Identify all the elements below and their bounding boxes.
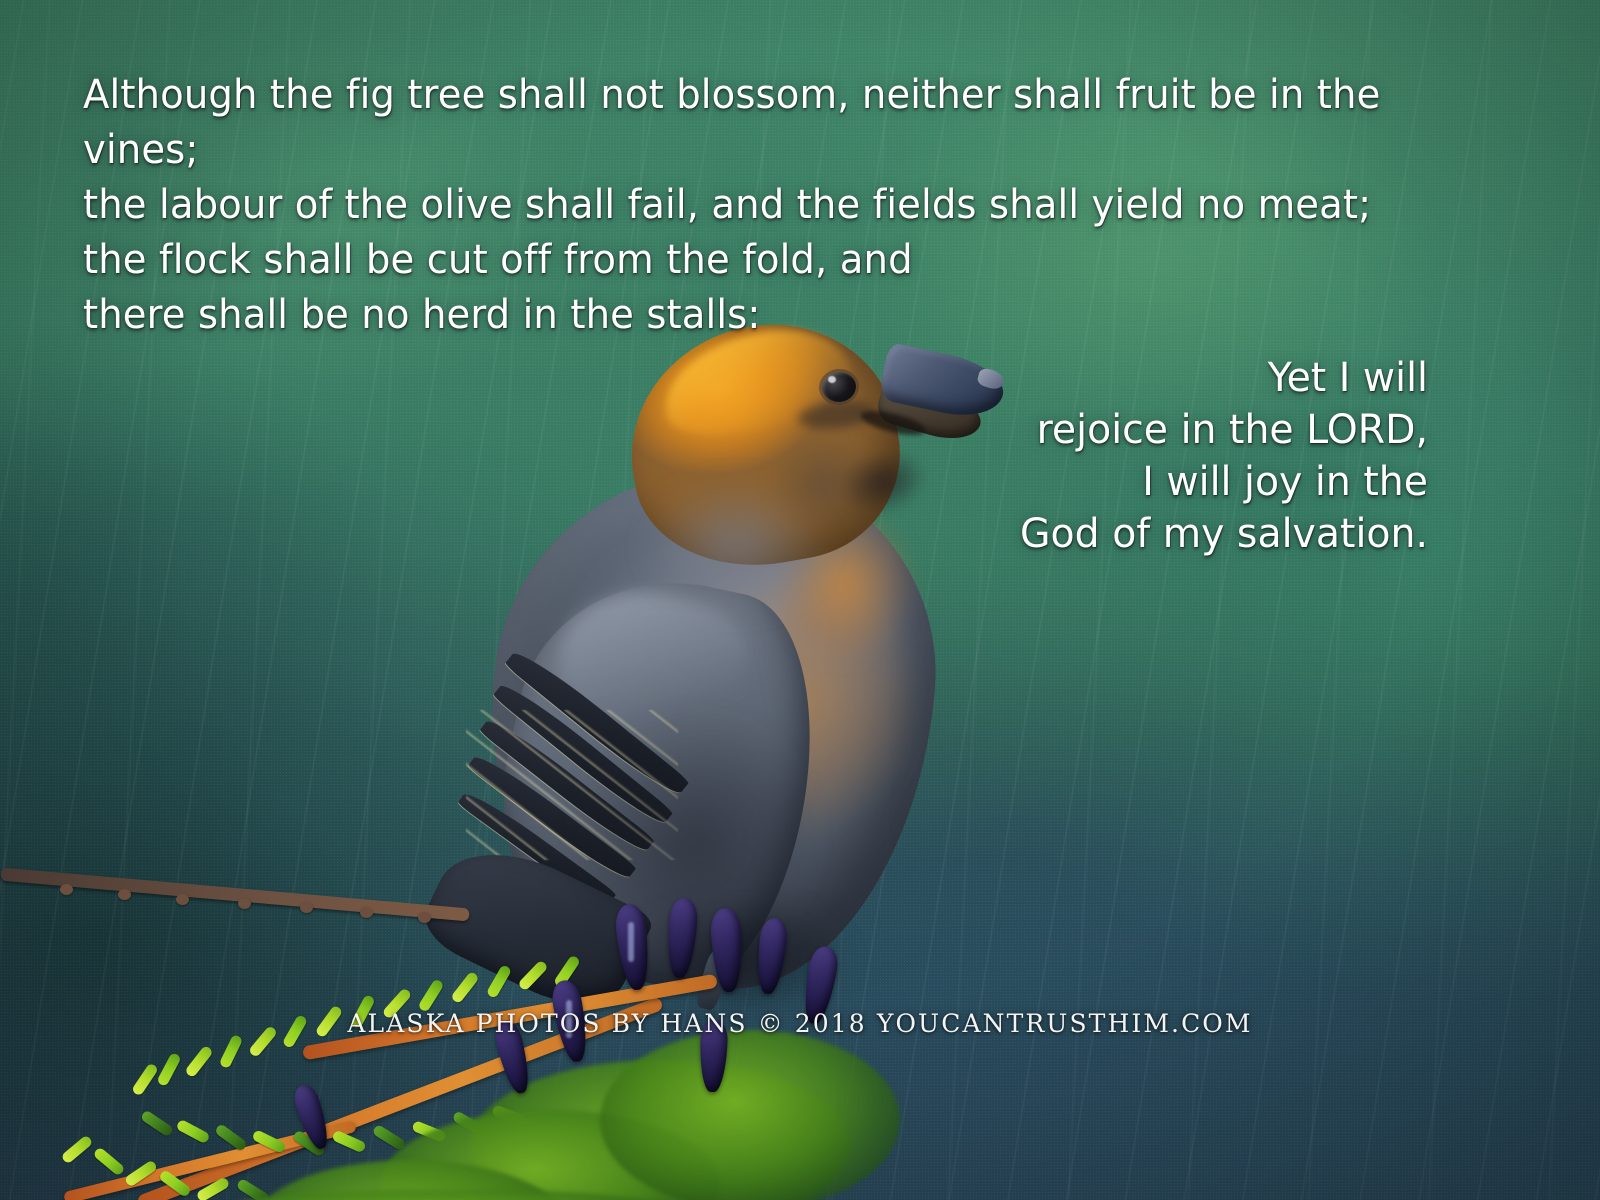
spruce-needle (486, 964, 513, 999)
verse-text-right: Yet I will rejoice in the LORD, I will j… (679, 352, 1428, 560)
spruce-needle (92, 1146, 125, 1176)
spruce-needle (219, 1034, 244, 1069)
cone-highlight (628, 922, 634, 962)
twig-nub (176, 894, 189, 905)
twig-nub (418, 912, 431, 923)
spruce-cone (665, 897, 699, 979)
twig-nub (118, 889, 131, 900)
spruce-foliage-mass (600, 1030, 900, 1200)
spruce-cone (754, 917, 789, 995)
spruce-needle (156, 1052, 182, 1087)
spruce-needle (417, 978, 444, 1013)
spruce-needle (60, 1134, 93, 1164)
scripture-photo-canvas: Although the fig tree shall not blossom,… (0, 0, 1600, 1200)
photo-credit-watermark: ALASKA PHOTOS BY HANS © 2018 YOUCANTRUST… (0, 1009, 1600, 1038)
spruce-needle (236, 1178, 271, 1200)
twig-nub (60, 884, 73, 895)
spruce-needle (517, 959, 549, 991)
twig-nub (360, 907, 373, 918)
spruce-needle (131, 1062, 159, 1096)
spruce-needle (175, 1119, 210, 1145)
spruce-needle (184, 1045, 214, 1079)
bare-twig (0, 868, 469, 922)
verse-text-top: Although the fig tree shall not blossom,… (83, 68, 1453, 343)
twig-nub (238, 898, 251, 909)
spruce-needle (214, 1123, 248, 1152)
spruce-needle (450, 971, 480, 1005)
spruce-needle (140, 1109, 174, 1137)
twig-nub (300, 902, 313, 913)
